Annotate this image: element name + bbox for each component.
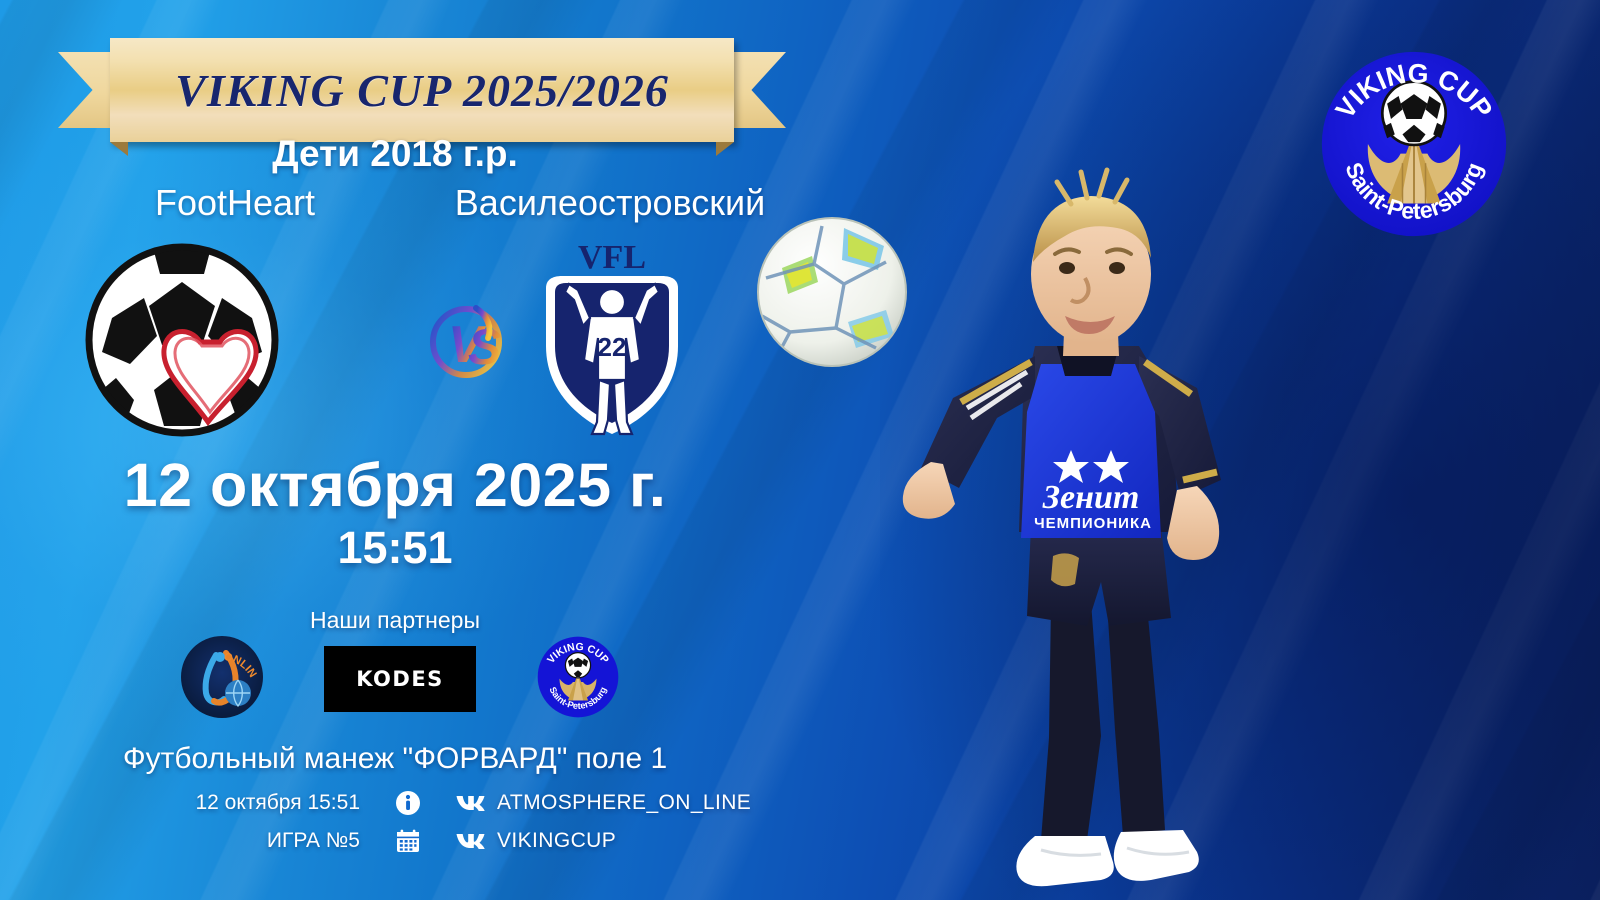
- social-primary-text: ATMOSPHERE_ON_LINE: [497, 791, 751, 815]
- vk-icon: [455, 793, 485, 813]
- partners-row: ONLINE KODES: [180, 637, 620, 721]
- away-team-logo: VFL 22: [522, 234, 702, 454]
- versus-logo: V S: [418, 292, 514, 393]
- match-poster: VIKING CUP 2025/2026 Дети 2018 г.р. Foot…: [0, 0, 1600, 900]
- partner-logo-kodes[interactable]: KODES: [324, 646, 476, 712]
- match-date: 12 октября 2025 г.: [0, 450, 790, 520]
- social-secondary-text: VIKINGCUP: [497, 829, 616, 853]
- viking-cup-badge-icon: VIKING CUP Saint-Petersburg: [536, 635, 620, 719]
- home-team-logo: [82, 240, 282, 445]
- vfl-shield-icon: VFL 22: [522, 234, 702, 449]
- footer-info: 12 октября 15:51 ATMOSPHERE_ON_LINE ИГРА…: [95, 790, 715, 854]
- vfl-label: VFL: [578, 239, 646, 276]
- bib-brand-text: Зенит: [1042, 479, 1140, 516]
- team-logos-row: V S VFL 22: [70, 240, 790, 455]
- partner-logo-atmosphere[interactable]: ONLINE: [180, 635, 264, 724]
- footer-datetime: 12 октября 15:51: [95, 791, 360, 815]
- svg-text:S: S: [468, 319, 501, 375]
- home-team-name: FootHeart: [70, 182, 400, 224]
- atmosphere-online-icon: ONLINE: [180, 635, 264, 719]
- info-icon: [360, 790, 455, 816]
- match-time: 15:51: [0, 522, 790, 574]
- vfl-player-number: 22: [598, 332, 627, 362]
- footer-game-number: ИГРА №5: [95, 829, 360, 853]
- viking-cup-corner-badge[interactable]: VIKING CUP Saint-Petersburg: [1318, 48, 1510, 240]
- bib-sub-text: ЧЕМПИОНИКА: [1034, 515, 1152, 532]
- age-group-label: Дети 2018 г.р.: [0, 133, 790, 175]
- ribbon-body: VIKING CUP 2025/2026: [110, 38, 734, 142]
- tournament-banner: VIKING CUP 2025/2026: [58, 38, 786, 142]
- tournament-title: VIKING CUP 2025/2026: [175, 64, 669, 117]
- vk-icon: [455, 831, 485, 851]
- social-secondary[interactable]: VIKINGCUP: [455, 829, 751, 853]
- young-footballer-illustration: Зенит ЧЕМПИОНИКА: [735, 150, 1295, 900]
- vs-icon: V S: [418, 292, 514, 388]
- team-names-row: FootHeart Василеостровский: [70, 182, 790, 224]
- social-primary[interactable]: ATMOSPHERE_ON_LINE: [455, 791, 751, 815]
- viking-cup-badge-icon: VIKING CUP Saint-Petersburg: [1318, 48, 1510, 240]
- football-heart-icon: [82, 240, 282, 440]
- venue-label: Футбольный манеж "ФОРВАРД" поле 1: [0, 742, 790, 776]
- partner-logo-vikingcup[interactable]: VIKING CUP Saint-Petersburg: [536, 635, 620, 724]
- player-photo: Зенит ЧЕМПИОНИКА: [735, 150, 1295, 900]
- partners-heading: Наши партнеры: [0, 607, 790, 634]
- calendar-icon: [360, 828, 455, 854]
- kodes-wordmark: KODES: [356, 667, 444, 691]
